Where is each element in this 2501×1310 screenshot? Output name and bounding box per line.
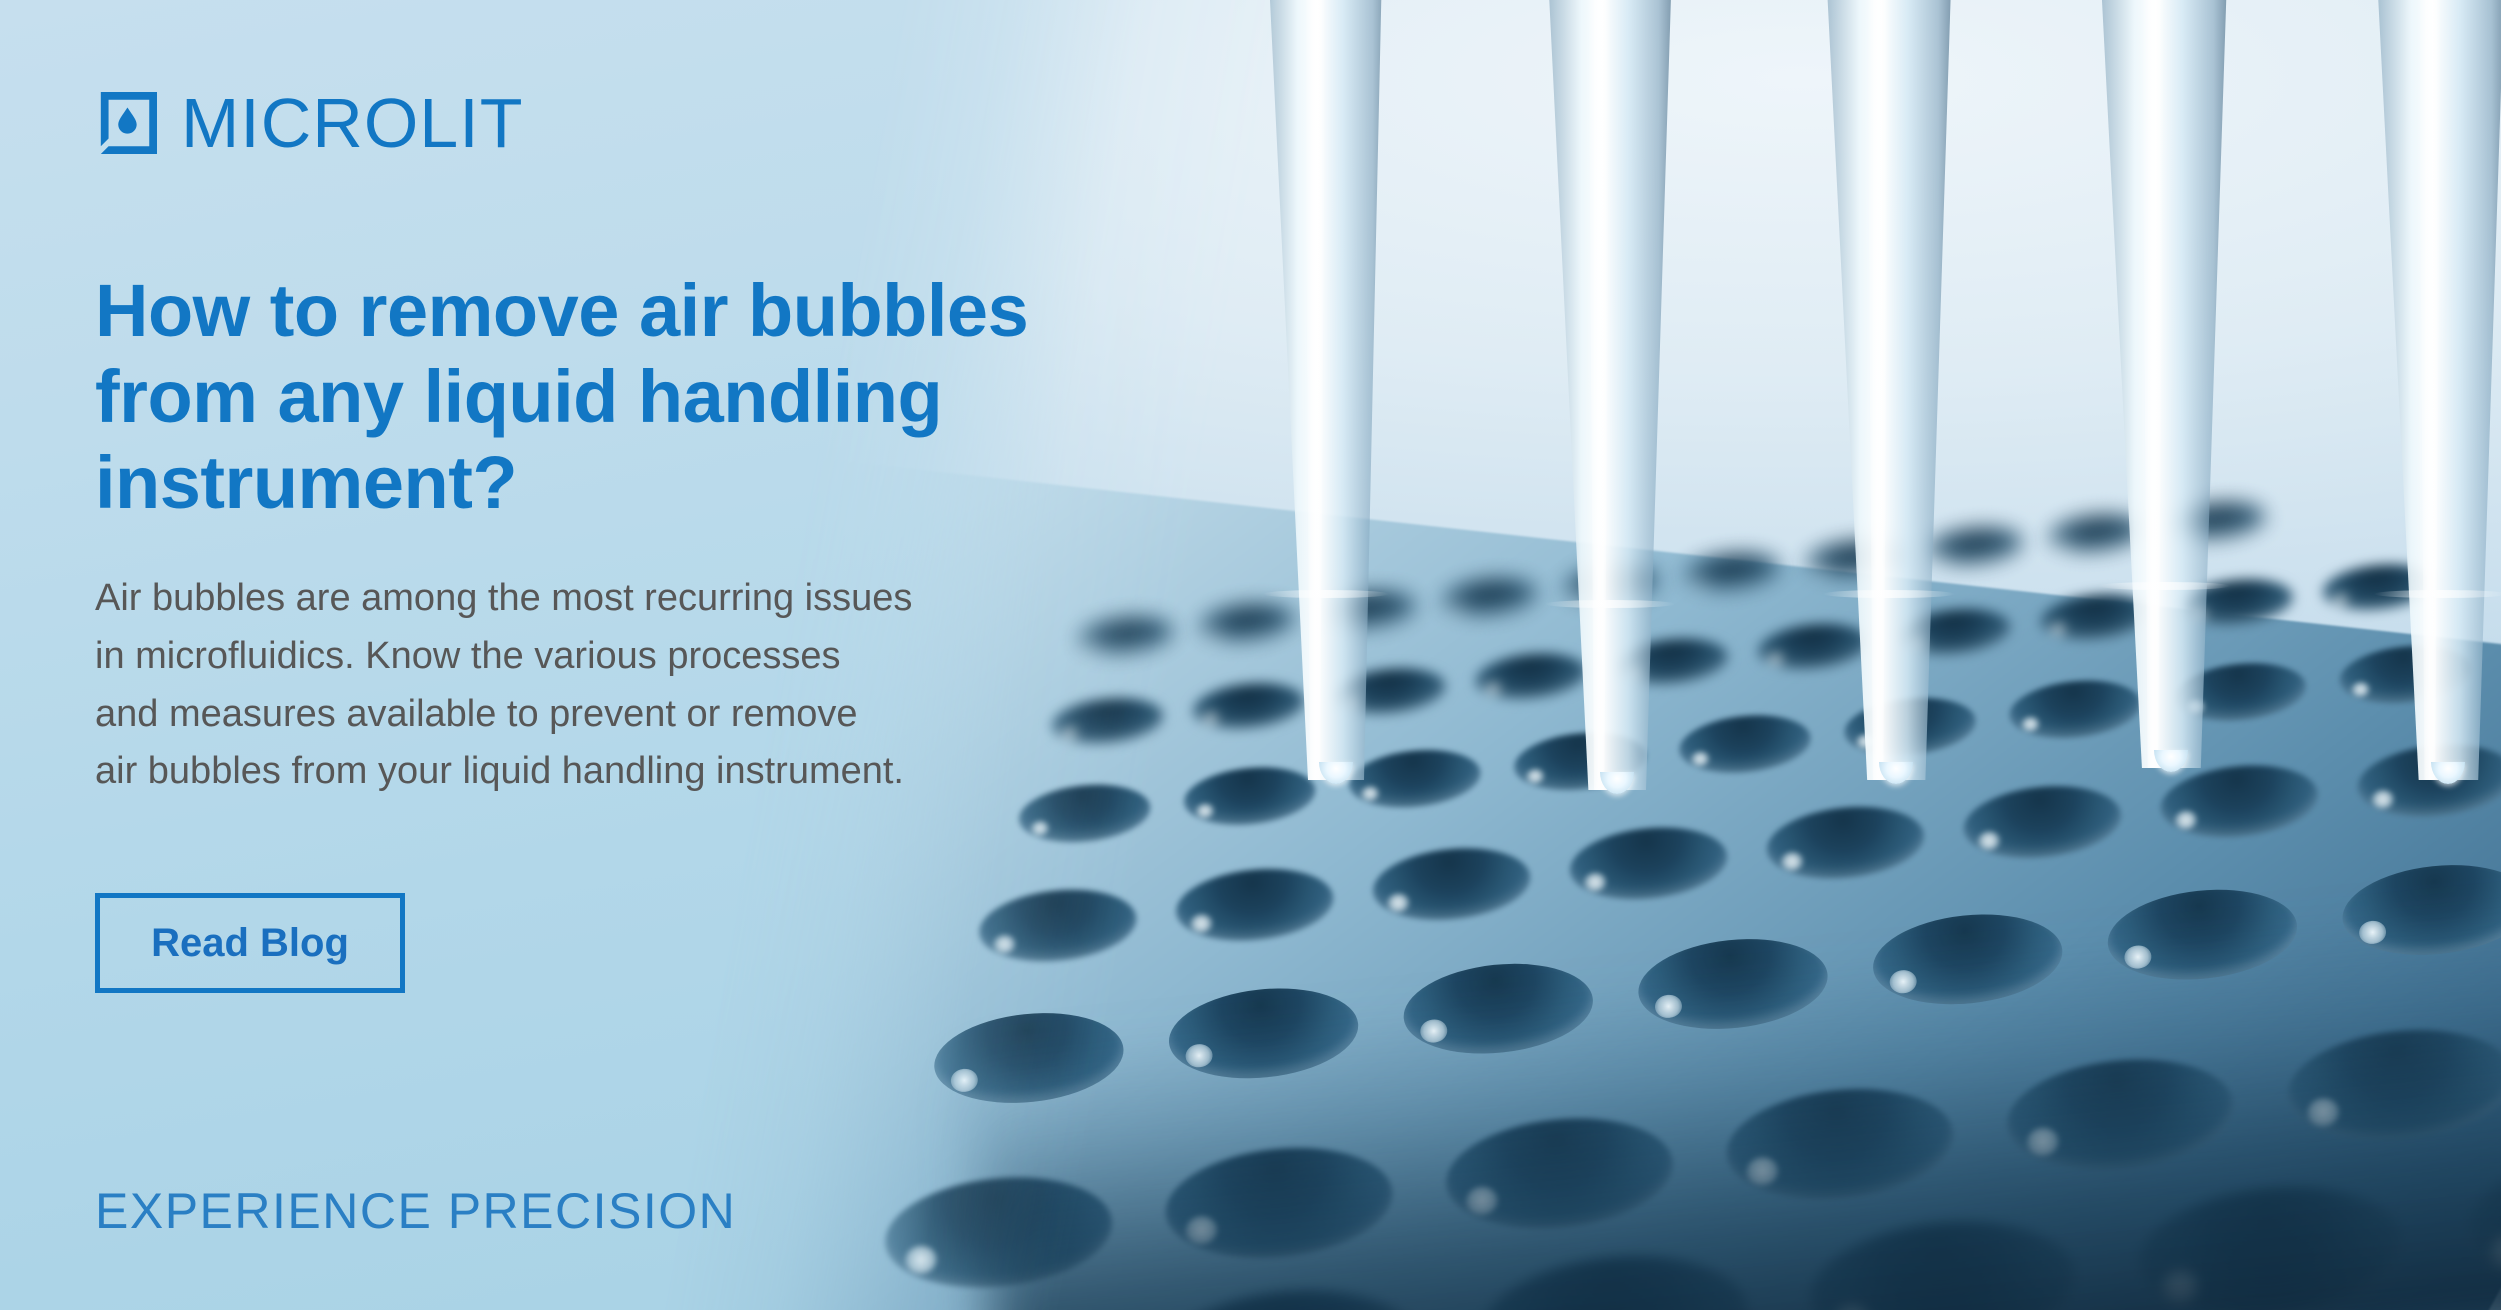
description-line-2: in microfluidics. Know the various proce…: [95, 628, 1185, 686]
droplet-in-square-icon: [95, 92, 157, 154]
description-line-3: and measures available to prevent or rem…: [95, 686, 1185, 744]
brand-logo[interactable]: MICROLIT: [95, 88, 523, 158]
pipette-tip: [2348, 0, 2501, 780]
promo-banner: MICROLIT How to remove air bubbles from …: [0, 0, 2501, 1310]
description-text: Air bubbles are among the most recurring…: [95, 570, 1185, 801]
description-line-1: Air bubbles are among the most recurring…: [95, 570, 1185, 628]
pipette-tip: [1798, 0, 1980, 780]
pipette-tip: [1520, 0, 1700, 790]
brand-tagline: EXPERIENCE PRECISION: [95, 1182, 736, 1240]
pipette-tip: [1238, 0, 1413, 780]
read-blog-button[interactable]: Read Blog: [95, 893, 405, 993]
banner-content: MICROLIT How to remove air bubbles from …: [0, 0, 1250, 1310]
description-line-4: air bubbles from your liquid handling in…: [95, 743, 1185, 801]
pipette-tip: [2072, 0, 2256, 768]
brand-name: MICROLIT: [181, 88, 523, 158]
page-title: How to remove air bubbles from any liqui…: [95, 268, 1155, 525]
